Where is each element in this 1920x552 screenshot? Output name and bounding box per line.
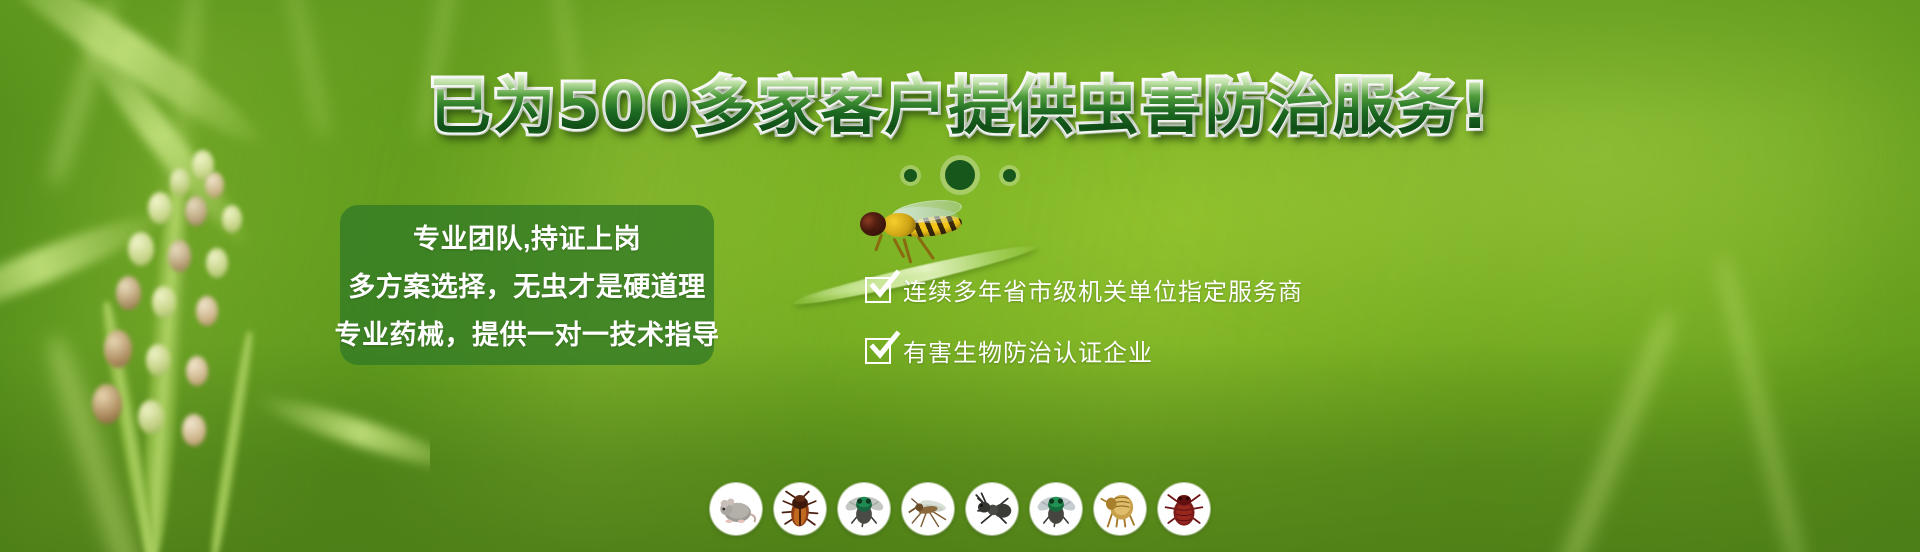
pest-icon-mouse[interactable]: 鼠 [710, 483, 762, 535]
pest-icon-greenfly[interactable]: 绿头苍蝇 [1030, 483, 1082, 535]
pest-control-hero-banner: 已为500多家客户提供虫害防治服务! 已为500多家客户提供虫害防治服务! 专业… [0, 0, 1920, 552]
pest-icon-row: 鼠 蟑螂 [0, 483, 1920, 535]
fly-leg [903, 238, 913, 264]
plant-bud [128, 232, 154, 266]
fly-leg [917, 236, 935, 260]
selling-point-line-1: 专业团队,持证上岗 [413, 217, 641, 256]
plant-bud [222, 205, 242, 233]
checkbox-checked-icon [865, 277, 891, 303]
hoverfly-icon [852, 203, 962, 255]
fly-thorax [882, 213, 916, 237]
credential-item-1: 连续多年省市级机关单位指定服务商 [865, 272, 1303, 307]
plant-bud [104, 330, 132, 368]
plant-leaf [0, 203, 167, 332]
credential-item-2: 有害生物防治认证企业 [865, 333, 1303, 368]
selling-point-line-3: 专业药械，提供一对一技术指导 [335, 313, 720, 352]
selling-points-panel: 专业团队,持证上岗 多方案选择，无虫才是硬道理 专业药械，提供一对一技术指导 [340, 205, 714, 365]
fly-eye [862, 215, 877, 233]
pest-icon-blowfly[interactable]: 苍蝇 [838, 483, 890, 535]
plant-bud [92, 384, 122, 424]
pest-icon-cockroach[interactable]: 蟑螂 [774, 483, 826, 535]
pest-icon-ant[interactable]: 蚂蚁 [966, 483, 1018, 535]
plant-bud [185, 196, 207, 226]
checkbox-checked-icon [865, 338, 891, 364]
plant-bud [152, 286, 176, 318]
dot-large-center [945, 160, 975, 190]
plant-leaf [251, 387, 430, 480]
plant-bud [146, 344, 170, 376]
plant-bud [148, 192, 172, 224]
plant-bud [116, 276, 141, 310]
decorative-dot-row [0, 160, 1920, 190]
plant-bud [186, 356, 208, 386]
plant-bud [182, 414, 206, 446]
pest-icon-bedbug[interactable]: 臭虫 [1158, 483, 1210, 535]
plant-bud [206, 248, 228, 278]
plant-bud [196, 296, 218, 326]
fly-leg [875, 234, 884, 252]
credential-label-1: 连续多年省市级机关单位指定服务商 [903, 272, 1303, 307]
pest-icon-mosquito[interactable]: 蚊子 [902, 483, 954, 535]
plant-leaf [0, 0, 273, 159]
credentials-list: 连续多年省市级机关单位指定服务商 有害生物防治认证企业 [865, 272, 1303, 368]
plant-bud [168, 240, 191, 272]
plant-bud [138, 400, 164, 434]
dot-small-right [1003, 169, 1016, 182]
selling-point-line-2: 多方案选择，无虫才是硬道理 [348, 265, 706, 304]
credential-label-2: 有害生物防治认证企业 [903, 333, 1153, 368]
pest-icon-flea[interactable]: 跳蚤 [1094, 483, 1146, 535]
dot-small-left [904, 169, 917, 182]
